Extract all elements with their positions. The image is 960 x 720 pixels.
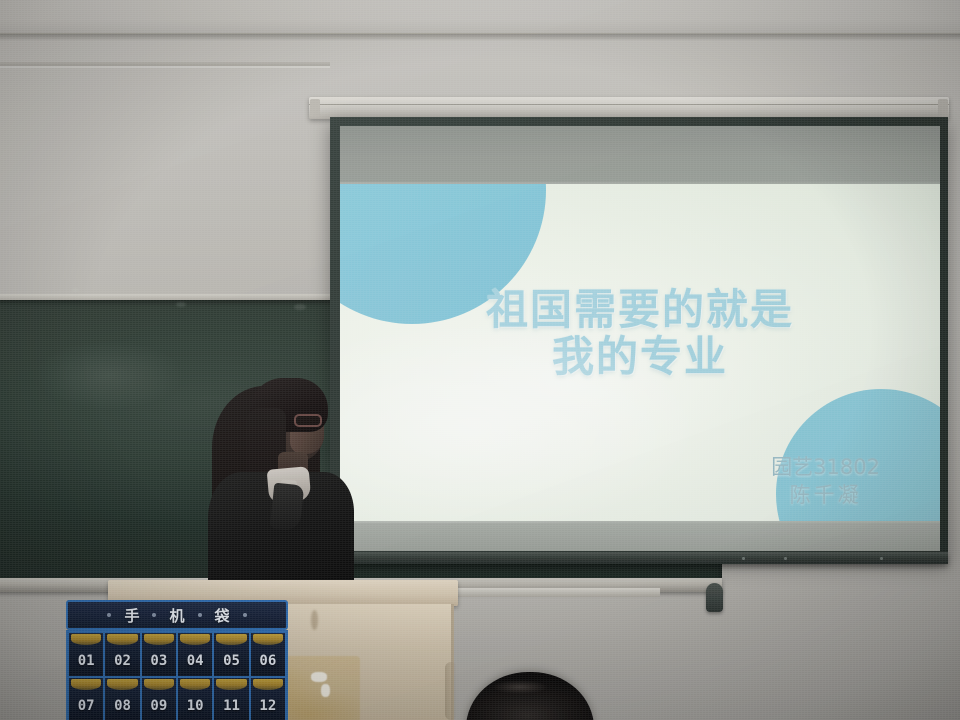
slide-subtitle: 园艺31802 陈千凝 [771,453,880,509]
pocket-flap [216,634,246,645]
screen-unlit-bottom-band [340,521,940,551]
phone-pocket[interactable]: 05 [213,632,249,677]
pocket-flap [253,679,283,690]
phone-organizer-banner: 手 机 袋 [66,600,288,630]
pocket-number: 12 [259,698,276,720]
slide-title-line-1: 祖国需要的就是 [486,285,794,334]
ceiling-soffit [0,0,960,34]
phone-pocket[interactable]: 07 [68,677,104,720]
screen-roller-housing [309,97,949,119]
presenter-glasses [294,414,322,427]
projector-screen-frame: 祖国需要的就是 我的专业 园艺31802 陈千凝 [330,117,948,560]
screen-bar-dot [880,557,883,560]
phone-pocket-organizer: 手 机 袋 010203040506070809101112 [66,600,288,720]
slide-title-line-2: 我的专业 [340,333,940,380]
phone-pocket[interactable]: 04 [177,632,213,677]
phone-organizer-title-char-1: 手 [124,605,139,626]
pocket-number: 09 [150,698,167,720]
slide-subtitle-class: 园艺31802 [771,453,880,481]
soffit-shadow [0,34,960,41]
presenter [206,372,376,590]
pocket-number: 11 [223,698,240,720]
pocket-number: 07 [78,698,95,720]
screen-bar-dot [784,557,787,560]
pocket-flap [144,634,174,645]
pocket-number: 08 [114,698,131,720]
pocket-number: 05 [223,653,240,676]
phone-pocket[interactable]: 09 [141,677,177,720]
classroom-photo: 祖国需要的就是 我的专业 园艺31802 陈千凝 [0,0,960,720]
pocket-number: 10 [187,698,204,720]
decor-dot-icon [243,613,247,617]
phone-pocket[interactable]: 03 [141,632,177,677]
pocket-number: 06 [259,653,276,676]
screen-housing-seam [309,104,949,105]
phone-pocket[interactable]: 12 [250,677,286,720]
screen-pull-handle[interactable] [706,583,723,612]
phone-pocket[interactable]: 11 [213,677,249,720]
decor-dot-icon [198,613,202,617]
pocket-flap [180,634,210,645]
wall-rail-highlight [0,66,330,68]
decor-dot-icon [152,613,156,617]
phone-organizer-pocket-grid: 010203040506070809101112 [66,630,288,720]
pocket-number: 03 [150,653,167,676]
hair-highlight [492,680,548,694]
phone-pocket[interactable]: 06 [250,632,286,677]
pocket-number: 01 [78,653,95,676]
pocket-flap [71,634,101,645]
pocket-flap [216,679,246,690]
lectern-edge-wear [445,662,457,720]
pocket-flap [107,679,137,690]
screen-unlit-top-band [340,126,940,184]
projector-screen-surface: 祖国需要的就是 我的专业 园艺31802 陈千凝 [340,126,940,551]
decor-dot-icon [107,613,111,617]
phone-pocket[interactable]: 02 [104,632,140,677]
phone-organizer-title-char-3: 袋 [215,605,230,626]
pocket-flap [71,679,101,690]
phone-pocket[interactable]: 08 [104,677,140,720]
pocket-flap [180,679,210,690]
slide-subtitle-name: 陈千凝 [771,481,880,509]
screen-bar-dot [742,557,745,560]
phone-pocket[interactable]: 10 [177,677,213,720]
phone-organizer-title-char-2: 机 [169,605,184,626]
phone-pocket[interactable]: 01 [68,632,104,677]
screen-weight-bar [330,552,948,564]
pocket-flap [107,634,137,645]
pocket-number: 04 [187,653,204,676]
pocket-number: 02 [114,653,131,676]
screen-housing-end-left [310,99,320,117]
presentation-slide: 祖国需要的就是 我的专业 园艺31802 陈千凝 [340,182,940,523]
pocket-flap [144,679,174,690]
pocket-flap [253,634,283,645]
screen-housing-end-right [938,99,948,117]
slide-title: 祖国需要的就是 我的专业 [340,286,940,380]
